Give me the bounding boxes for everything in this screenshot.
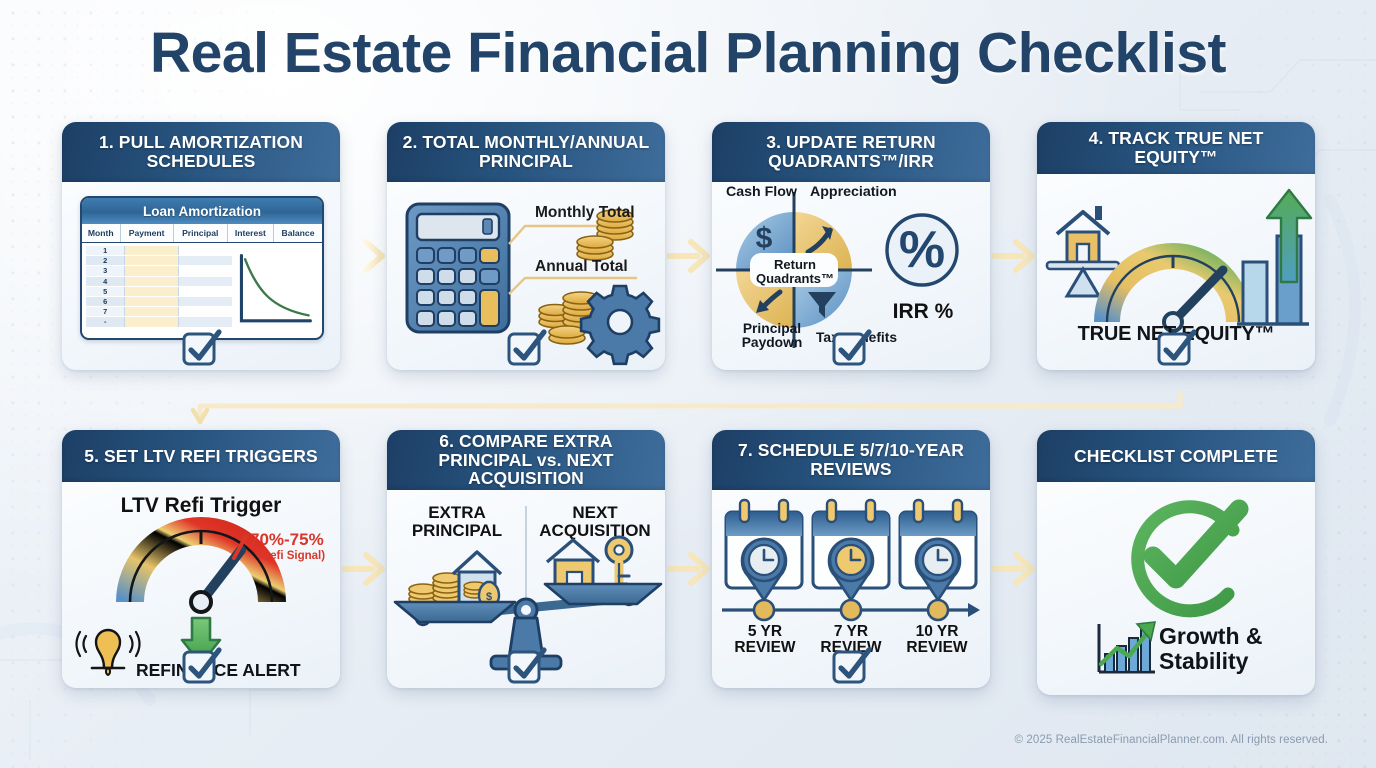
growth-stability-label: Growth & Stability xyxy=(1159,624,1263,674)
milestone-5yr-line1: 5 YR xyxy=(720,624,810,640)
col-balance: Balance xyxy=(274,224,322,243)
row-month: 4 xyxy=(86,277,125,286)
quadrant-label-cash-flow: Cash Flow xyxy=(726,184,797,200)
milestone-label-5yr: 5 YR REVIEW xyxy=(720,624,810,657)
connector-wrap-4-to-5 xyxy=(170,392,1190,426)
row-payment xyxy=(125,317,178,326)
row-payment xyxy=(125,266,178,275)
card-1-title: 1. PULL AMORTIZATION SCHEDULES xyxy=(70,133,332,171)
card-schedule-reviews[interactable]: 7. SCHEDULE 5/7/10-YEAR REVIEWS xyxy=(712,430,990,688)
milestone-5yr-line2: REVIEW xyxy=(720,640,810,656)
card-5-header: 5. SET LTV REFI TRIGGERS xyxy=(62,430,340,482)
col-payment: Payment xyxy=(120,224,173,243)
amortization-decline-chart xyxy=(234,243,322,335)
center-label-line2: Quadrants™ xyxy=(756,272,834,286)
connector-arrow-5-to-6 xyxy=(342,548,388,590)
card-8-header: CHECKLIST COMPLETE xyxy=(1037,430,1315,482)
card-7-header: 7. SCHEDULE 5/7/10-YEAR REVIEWS xyxy=(712,430,990,490)
checkbox-checked-icon-6[interactable] xyxy=(504,646,548,686)
table-row: 2 xyxy=(86,256,232,266)
col-month: Month xyxy=(82,224,120,243)
card-2-title: 2. TOTAL MONTHLY/ANNUAL PRINCIPAL xyxy=(395,133,657,171)
svg-text:$: $ xyxy=(756,222,773,255)
row-payment xyxy=(125,256,178,265)
card-3-header: 3. UPDATE RETURN QUADRANTS™/IRR xyxy=(712,122,990,182)
equity-gauge xyxy=(1107,256,1239,331)
row-principal xyxy=(179,317,232,326)
connector-arrow-7-to-8 xyxy=(992,548,1038,590)
card-total-monthly-annual-principal[interactable]: 2. TOTAL MONTHLY/ANNUAL PRINCIPAL xyxy=(387,122,665,370)
table-row: 5 xyxy=(86,287,232,297)
calendar-clock-icon-1 xyxy=(726,500,802,600)
bell-alert-icon xyxy=(77,630,140,675)
annual-total-label: Annual Total xyxy=(535,258,628,276)
checkbox-checked-icon-7[interactable] xyxy=(829,646,873,686)
card-8-body: Growth & Stability xyxy=(1037,482,1315,695)
checkbox-checked-icon-1[interactable] xyxy=(179,328,223,368)
card-6-header: 6. COMPARE EXTRA PRINCIPAL vs. NEXT ACQU… xyxy=(387,430,665,490)
svg-text:%: % xyxy=(899,221,945,279)
row-principal xyxy=(179,297,232,306)
gear-icon xyxy=(581,286,659,364)
row-principal xyxy=(179,307,232,316)
card-4-title: 4. TRACK TRUE NET EQUITY™ xyxy=(1045,129,1307,167)
amortization-header-row: Month Payment Principal Interest Balance xyxy=(82,224,322,243)
card-1-header: 1. PULL AMORTIZATION SCHEDULES xyxy=(62,122,340,182)
table-row: 4 xyxy=(86,277,232,287)
row-payment xyxy=(125,277,178,286)
growth-stability-line2: Stability xyxy=(1159,649,1263,674)
card-track-true-net-equity[interactable]: 4. TRACK TRUE NET EQUITY™ xyxy=(1037,122,1315,370)
row-month: 7 xyxy=(86,307,125,316)
checkbox-checked-icon-4[interactable] xyxy=(1154,328,1198,368)
row-payment xyxy=(125,307,178,316)
table-row: 3 xyxy=(86,266,232,276)
card-compare-extra-principal-vs-next-acquisition[interactable]: 6. COMPARE EXTRA PRINCIPAL vs. NEXT ACQU… xyxy=(387,430,665,688)
connector-arrow-1-to-2 xyxy=(342,235,388,277)
key-icon xyxy=(606,537,632,590)
review-timeline xyxy=(722,600,980,620)
row-month: 2 xyxy=(86,256,125,265)
row-principal xyxy=(179,266,232,275)
table-row: 1 xyxy=(86,246,232,256)
row-month: - xyxy=(86,317,125,326)
loan-amortization-table: Loan Amortization Month Payment Principa… xyxy=(80,196,324,340)
connector-arrow-3-to-4 xyxy=(992,235,1038,277)
growth-chart-icon xyxy=(1099,622,1155,672)
quadrant-label-appreciation: Appreciation xyxy=(810,184,897,200)
table-row: - xyxy=(86,317,232,327)
col-principal: Principal xyxy=(173,224,227,243)
growth-bars-icon xyxy=(1237,190,1311,324)
amortization-lower: 1 2 3 4 5 6 7 - xyxy=(82,243,322,335)
footer-copyright: © 2025 RealEstateFinancialPlanner.com. A… xyxy=(1014,734,1328,746)
checkbox-checked-icon-3[interactable] xyxy=(829,328,873,368)
percent-icon: % xyxy=(887,215,957,285)
connector-arrow-2-to-3 xyxy=(667,235,713,277)
calendar-clock-icon-2 xyxy=(813,500,889,600)
card-7-title: 7. SCHEDULE 5/7/10-YEAR REVIEWS xyxy=(720,441,982,479)
calendar-clock-icon-3 xyxy=(900,500,976,600)
card-4-header: 4. TRACK TRUE NET EQUITY™ xyxy=(1037,122,1315,174)
connector-arrow-6-to-7 xyxy=(667,548,713,590)
house-icon xyxy=(547,540,599,590)
milestone-10yr-line1: 10 YR xyxy=(892,624,982,640)
center-label-line1: Return xyxy=(756,258,834,272)
card-set-ltv-refi-triggers[interactable]: 5. SET LTV REFI TRIGGERS LTV Refi Trigge… xyxy=(62,430,340,688)
card-update-return-quadrants-irr[interactable]: 3. UPDATE RETURN QUADRANTS™/IRR xyxy=(712,122,990,370)
row-month: 6 xyxy=(86,297,125,306)
card-checklist-complete[interactable]: CHECKLIST COMPLETE xyxy=(1037,430,1315,695)
irr-label: IRR % xyxy=(890,300,956,324)
row-principal xyxy=(179,287,232,296)
row-principal xyxy=(179,246,232,255)
house-with-money-icon: $ xyxy=(453,552,501,606)
ltv-refi-trigger-heading: LTV Refi Trigger xyxy=(62,494,340,518)
refi-signal-sublabel: (Refi Signal) xyxy=(258,550,325,562)
checkbox-checked-icon-5[interactable] xyxy=(179,646,223,686)
row-principal xyxy=(179,277,232,286)
card-8-title: CHECKLIST COMPLETE xyxy=(1074,447,1278,466)
milestone-7yr-line1: 7 YR xyxy=(806,624,896,640)
amortization-rows: 1 2 3 4 5 6 7 - xyxy=(82,243,234,335)
row-month: 5 xyxy=(86,287,125,296)
row-payment xyxy=(125,297,178,306)
row-month: 1 xyxy=(86,246,125,255)
card-3-title: 3. UPDATE RETURN QUADRANTS™/IRR xyxy=(720,133,982,171)
card-pull-amortization-schedules[interactable]: 1. PULL AMORTIZATION SCHEDULES Loan Amor… xyxy=(62,122,340,370)
card-6-title: 6. COMPARE EXTRA PRINCIPAL vs. NEXT ACQU… xyxy=(395,432,657,489)
row-payment xyxy=(125,246,178,255)
milestone-label-10yr: 10 YR REVIEW xyxy=(892,624,982,657)
row-month: 3 xyxy=(86,266,125,275)
quadrant-label-principal-paydown: Principal Paydown xyxy=(730,322,814,351)
success-check-circle-icon xyxy=(1138,507,1239,611)
card-2-header: 2. TOTAL MONTHLY/ANNUAL PRINCIPAL xyxy=(387,122,665,182)
checklist-grid: 1. PULL AMORTIZATION SCHEDULES Loan Amor… xyxy=(0,0,1376,768)
checkbox-checked-icon-2[interactable] xyxy=(504,328,548,368)
table-row: 7 xyxy=(86,307,232,317)
return-quadrants-center-label: Return Quadrants™ xyxy=(756,258,834,285)
milestone-10yr-line2: REVIEW xyxy=(892,640,982,656)
col-interest: Interest xyxy=(227,224,273,243)
refi-range-value: 70%-75% xyxy=(250,530,324,550)
row-principal xyxy=(179,256,232,265)
card-5-title: 5. SET LTV REFI TRIGGERS xyxy=(84,447,318,466)
monthly-total-label: Monthly Total xyxy=(535,204,635,222)
amortization-table-title: Loan Amortization xyxy=(82,198,322,224)
row-payment xyxy=(125,287,178,296)
table-row: 6 xyxy=(86,297,232,307)
growth-stability-line1: Growth & xyxy=(1159,624,1263,649)
